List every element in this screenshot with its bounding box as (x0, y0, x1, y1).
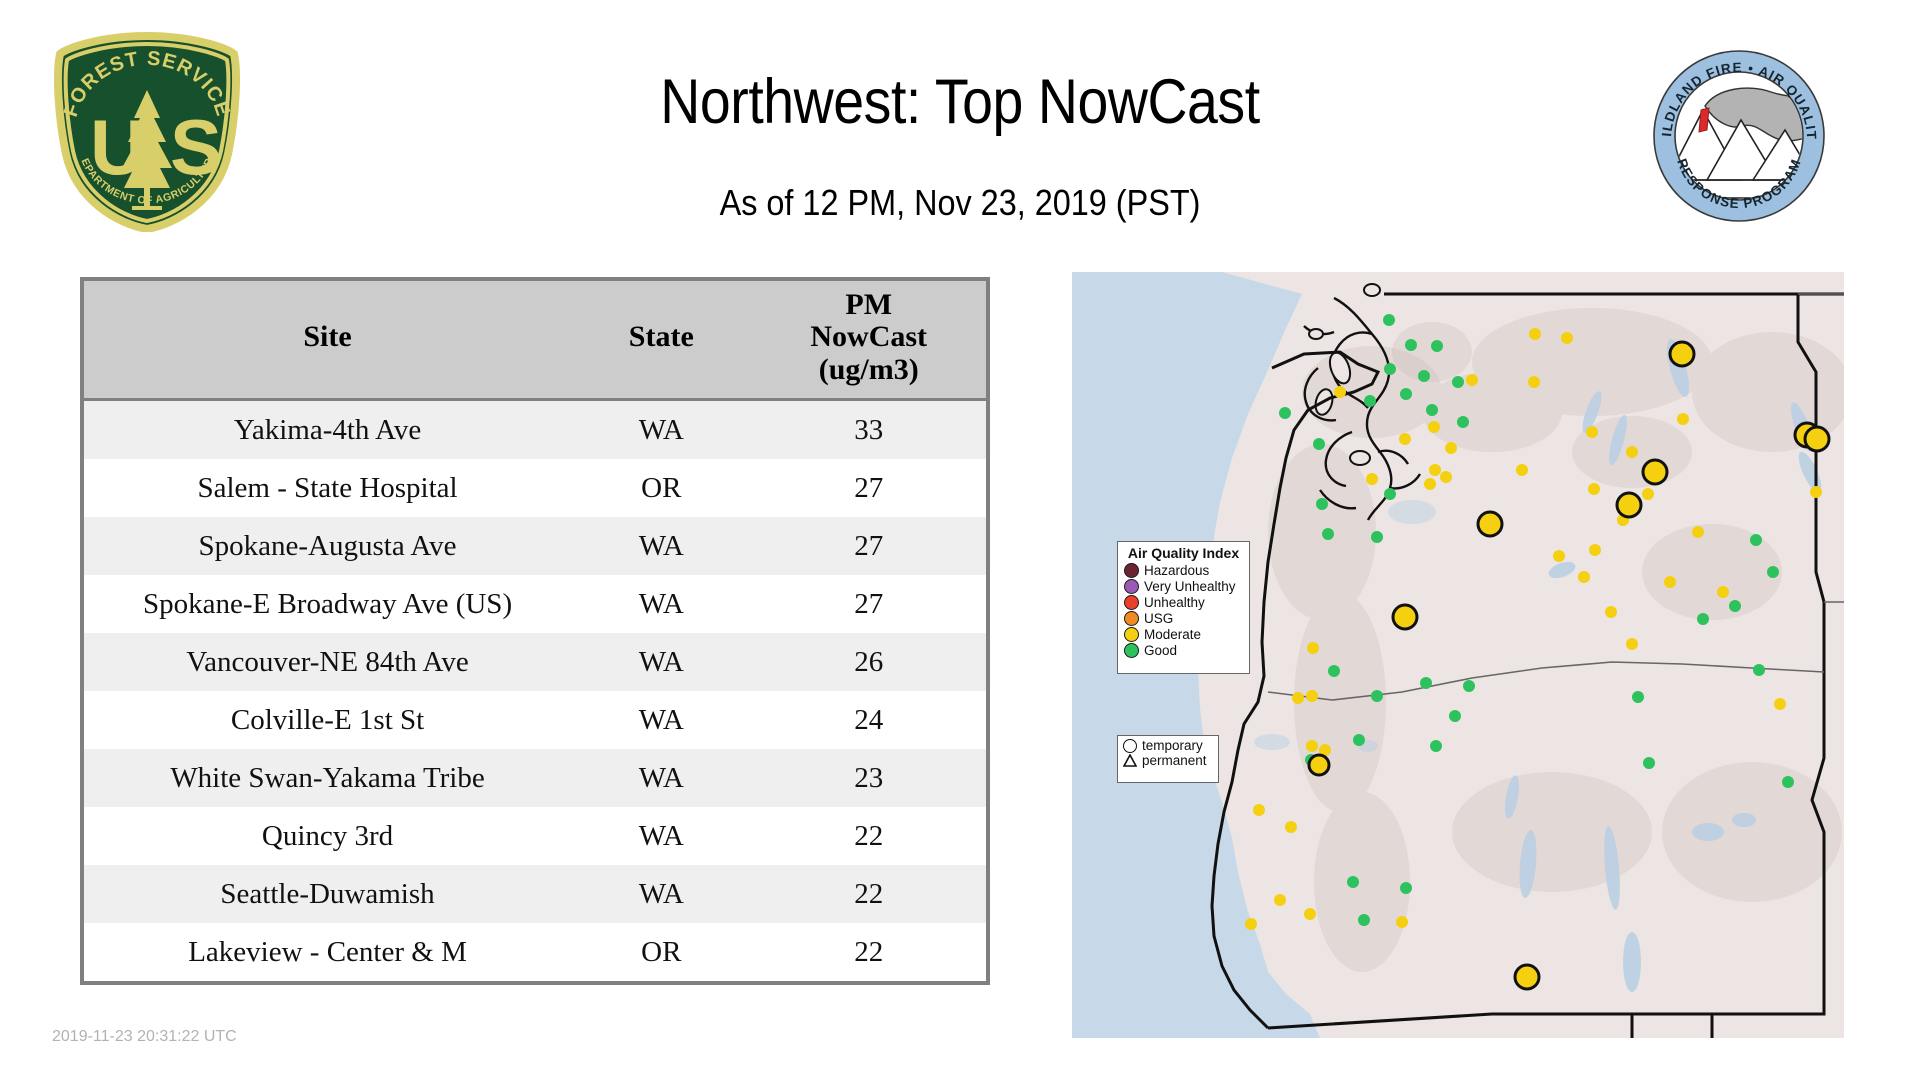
monitor-dot[interactable] (1347, 876, 1359, 888)
monitor-dot[interactable] (1717, 586, 1729, 598)
table-row: Colville-E 1st StWA24 (84, 691, 986, 749)
monitor-dot[interactable] (1316, 498, 1328, 510)
monitor-dot[interactable] (1313, 438, 1325, 450)
monitor-dot[interactable] (1274, 894, 1286, 906)
monitor-dot[interactable] (1664, 576, 1676, 588)
cell-pm-nowcast: 23 (751, 749, 986, 807)
monitor-dot[interactable] (1426, 404, 1438, 416)
monitor-dot[interactable] (1307, 642, 1319, 654)
monitor-dot[interactable] (1358, 914, 1370, 926)
monitor-dot[interactable] (1810, 486, 1822, 498)
table-row: White Swan-Yakama TribeWA23 (84, 749, 986, 807)
monitor-dot[interactable] (1782, 776, 1794, 788)
fire-marker-icon (1699, 108, 1709, 132)
legend-item: Good (1124, 643, 1244, 658)
monitor-dot[interactable] (1449, 710, 1461, 722)
cell-pm-nowcast: 27 (751, 575, 986, 633)
monitor-dot[interactable] (1396, 916, 1408, 928)
monitor-dot[interactable] (1463, 680, 1475, 692)
monitor-dot[interactable] (1516, 464, 1528, 476)
cell-state: OR (571, 923, 751, 981)
cell-site: Yakima-4th Ave (84, 400, 571, 460)
legend-item-label: Very Unhealthy (1144, 580, 1236, 594)
monitor-dot[interactable] (1729, 600, 1741, 612)
cell-pm-nowcast: 22 (751, 865, 986, 923)
monitor-dot[interactable] (1405, 339, 1417, 351)
usfs-letter-s: S (170, 103, 222, 191)
cell-site: Vancouver-NE 84th Ave (84, 633, 571, 691)
cell-pm-nowcast: 24 (751, 691, 986, 749)
legend-title: Air Quality Index (1123, 545, 1244, 561)
cell-pm-nowcast: 33 (751, 400, 986, 460)
table-row: Lakeview - Center & MOR22 (84, 923, 986, 981)
legend-item: Unhealthy (1124, 595, 1244, 610)
cell-pm-nowcast: 27 (751, 517, 986, 575)
legend-rows: HazardousVery UnhealthyUnhealthyUSGModer… (1123, 563, 1244, 658)
monitor-dot[interactable] (1452, 376, 1464, 388)
monitor-dot[interactable] (1626, 638, 1638, 650)
monitor-dot[interactable] (1697, 613, 1709, 625)
monitor-dot[interactable] (1589, 544, 1601, 556)
top-monitor-dot[interactable] (1805, 427, 1829, 451)
table-row: Vancouver-NE 84th AveWA26 (84, 633, 986, 691)
monitor-dot[interactable] (1328, 665, 1340, 677)
table-row: Spokane-E Broadway Ave (US)WA27 (84, 575, 986, 633)
cell-pm-nowcast: 22 (751, 807, 986, 865)
monitor-dot[interactable] (1553, 550, 1565, 562)
permanent-monitor-icon (1123, 754, 1137, 767)
cell-state: OR (571, 459, 751, 517)
cell-state: WA (571, 400, 751, 460)
monitor-dot[interactable] (1440, 471, 1452, 483)
monitor-dot[interactable] (1384, 488, 1396, 500)
legend-color-swatch (1124, 627, 1139, 642)
table-row: Yakima-4th AveWA33 (84, 400, 986, 460)
column-header-site: Site (84, 281, 571, 400)
legend-color-swatch (1124, 595, 1139, 610)
cell-state: WA (571, 575, 751, 633)
cell-pm-nowcast: 26 (751, 633, 986, 691)
monitor-dot[interactable] (1642, 488, 1654, 500)
wfaq-logo: WILDLAND FIRE • AIR QUALITY RESPONSE PRO… (1645, 48, 1833, 224)
monitor-dot[interactable] (1430, 740, 1442, 752)
land-mass (1198, 272, 1844, 1038)
legend-label-permanent: permanent (1142, 754, 1207, 768)
table-header-row: Site State PM NowCast (ug/m3) (84, 281, 986, 400)
monitor-dot[interactable] (1366, 473, 1378, 485)
cell-site: Spokane-E Broadway Ave (US) (84, 575, 571, 633)
monitor-dot[interactable] (1245, 918, 1257, 930)
legend-row-permanent: permanent (1123, 754, 1213, 768)
monitor-dot[interactable] (1692, 526, 1704, 538)
monitor-dot[interactable] (1588, 483, 1600, 495)
footer-timestamp: 2019-11-23 20:31:22 UTC (52, 1028, 237, 1046)
monitor-dot[interactable] (1334, 386, 1346, 398)
column-header-pm-line1: PM (751, 289, 986, 321)
monitor-dot[interactable] (1578, 571, 1590, 583)
table-body: Yakima-4th AveWA33Salem - State Hospital… (84, 400, 986, 982)
monitor-dot[interactable] (1371, 531, 1383, 543)
monitor-dot[interactable] (1253, 804, 1265, 816)
top-monitor-dot[interactable] (1309, 755, 1329, 775)
monitor-dot[interactable] (1304, 908, 1316, 920)
cell-site: Salem - State Hospital (84, 459, 571, 517)
monitor-dot[interactable] (1400, 388, 1412, 400)
nowcast-table: Site State PM NowCast (ug/m3) Yakima-4th… (84, 281, 986, 981)
usfs-logo: FOREST SERVICE DEPARTMENT OF AGRICULTURE… (52, 32, 242, 228)
top-monitor-dot[interactable] (1478, 512, 1502, 536)
monitor-dot[interactable] (1384, 363, 1396, 375)
table-row: Spokane-Augusta AveWA27 (84, 517, 986, 575)
monitor-dot[interactable] (1399, 433, 1411, 445)
monitor-dot[interactable] (1529, 328, 1541, 340)
monitor-dot[interactable] (1632, 691, 1644, 703)
legend-item: Hazardous (1124, 563, 1244, 578)
cell-site: Spokane-Augusta Ave (84, 517, 571, 575)
monitor-dot[interactable] (1424, 478, 1436, 490)
legend-item-label: Unhealthy (1144, 596, 1205, 610)
monitor-dot[interactable] (1371, 690, 1383, 702)
monitor-dot[interactable] (1306, 740, 1318, 752)
legend-color-swatch (1124, 563, 1139, 578)
legend-row-temporary: temporary (1123, 739, 1213, 753)
monitor-dot[interactable] (1677, 413, 1689, 425)
cell-site: Quincy 3rd (84, 807, 571, 865)
cell-state: WA (571, 865, 751, 923)
monitor-dot[interactable] (1322, 528, 1334, 540)
monitor-dot[interactable] (1466, 374, 1478, 386)
legend-label-temporary: temporary (1142, 739, 1203, 753)
table-row: Salem - State HospitalOR27 (84, 459, 986, 517)
column-header-pm-nowcast: PM NowCast (ug/m3) (751, 281, 986, 400)
top-monitor-dot[interactable] (1393, 605, 1417, 629)
table-row: Seattle-DuwamishWA22 (84, 865, 986, 923)
temporary-monitor-icon (1123, 739, 1137, 753)
monitor-dot[interactable] (1643, 757, 1655, 769)
monitor-dot[interactable] (1457, 416, 1469, 428)
top-monitor-dot[interactable] (1670, 342, 1694, 366)
column-header-pm-line3: (ug/m3) (751, 354, 986, 386)
top-monitor-dot[interactable] (1617, 493, 1641, 517)
monitor-dot[interactable] (1605, 606, 1617, 618)
top-monitor-dot[interactable] (1515, 965, 1539, 989)
nowcast-table-container: Site State PM NowCast (ug/m3) Yakima-4th… (80, 277, 990, 985)
legend-item: Moderate (1124, 627, 1244, 642)
page-subtitle: As of 12 PM, Nov 23, 2019 (PST) (366, 182, 1554, 224)
column-header-state: State (571, 281, 751, 400)
legend-item-label: Moderate (1144, 628, 1201, 642)
cell-pm-nowcast: 22 (751, 923, 986, 981)
legend-item: USG (1124, 611, 1244, 626)
legend-air-quality-index: Air Quality Index HazardousVery Unhealth… (1117, 541, 1250, 674)
monitor-dot[interactable] (1364, 395, 1376, 407)
table-row: Quincy 3rdWA22 (84, 807, 986, 865)
monitor-dot[interactable] (1561, 332, 1573, 344)
monitor-dot[interactable] (1753, 664, 1765, 676)
legend-color-swatch (1124, 643, 1139, 658)
monitor-dot[interactable] (1279, 407, 1291, 419)
cell-state: WA (571, 691, 751, 749)
monitor-dot[interactable] (1353, 734, 1365, 746)
legend-monitor-type: temporary permanent (1117, 735, 1219, 783)
legend-color-swatch (1124, 611, 1139, 626)
cell-state: WA (571, 807, 751, 865)
cell-site: Seattle-Duwamish (84, 865, 571, 923)
top-monitor-dot[interactable] (1643, 460, 1667, 484)
monitor-dot[interactable] (1383, 314, 1395, 326)
table-header: Site State PM NowCast (ug/m3) (84, 281, 986, 400)
monitor-dot[interactable] (1292, 692, 1304, 704)
legend-item-label: USG (1144, 612, 1173, 626)
monitor-dot[interactable] (1306, 690, 1318, 702)
cell-site: Lakeview - Center & M (84, 923, 571, 981)
legend-item-label: Hazardous (1144, 564, 1209, 578)
monitor-dot[interactable] (1431, 340, 1443, 352)
monitor-dot[interactable] (1767, 566, 1779, 578)
monitor-dot[interactable] (1528, 376, 1540, 388)
monitor-dot[interactable] (1285, 821, 1297, 833)
slide-root: FOREST SERVICE DEPARTMENT OF AGRICULTURE… (0, 0, 1920, 1080)
monitor-dot[interactable] (1418, 370, 1430, 382)
monitor-dot[interactable] (1586, 426, 1598, 438)
cell-site: White Swan-Yakama Tribe (84, 749, 571, 807)
monitor-dot[interactable] (1445, 442, 1457, 454)
cell-pm-nowcast: 27 (751, 459, 986, 517)
legend-color-swatch (1124, 579, 1139, 594)
monitor-dot[interactable] (1750, 534, 1762, 546)
cell-state: WA (571, 633, 751, 691)
cell-state: WA (571, 749, 751, 807)
page-title: Northwest: Top NowCast (379, 66, 1541, 138)
cell-state: WA (571, 517, 751, 575)
monitor-dot[interactable] (1774, 698, 1786, 710)
column-header-pm-line2: NowCast (751, 321, 986, 353)
cell-site: Colville-E 1st St (84, 691, 571, 749)
monitor-dot[interactable] (1626, 446, 1638, 458)
legend-item-label: Good (1144, 644, 1177, 658)
monitor-dot[interactable] (1420, 677, 1432, 689)
monitor-dot[interactable] (1400, 882, 1412, 894)
monitor-dot[interactable] (1429, 464, 1441, 476)
legend-item: Very Unhealthy (1124, 579, 1244, 594)
monitor-dot[interactable] (1428, 421, 1440, 433)
